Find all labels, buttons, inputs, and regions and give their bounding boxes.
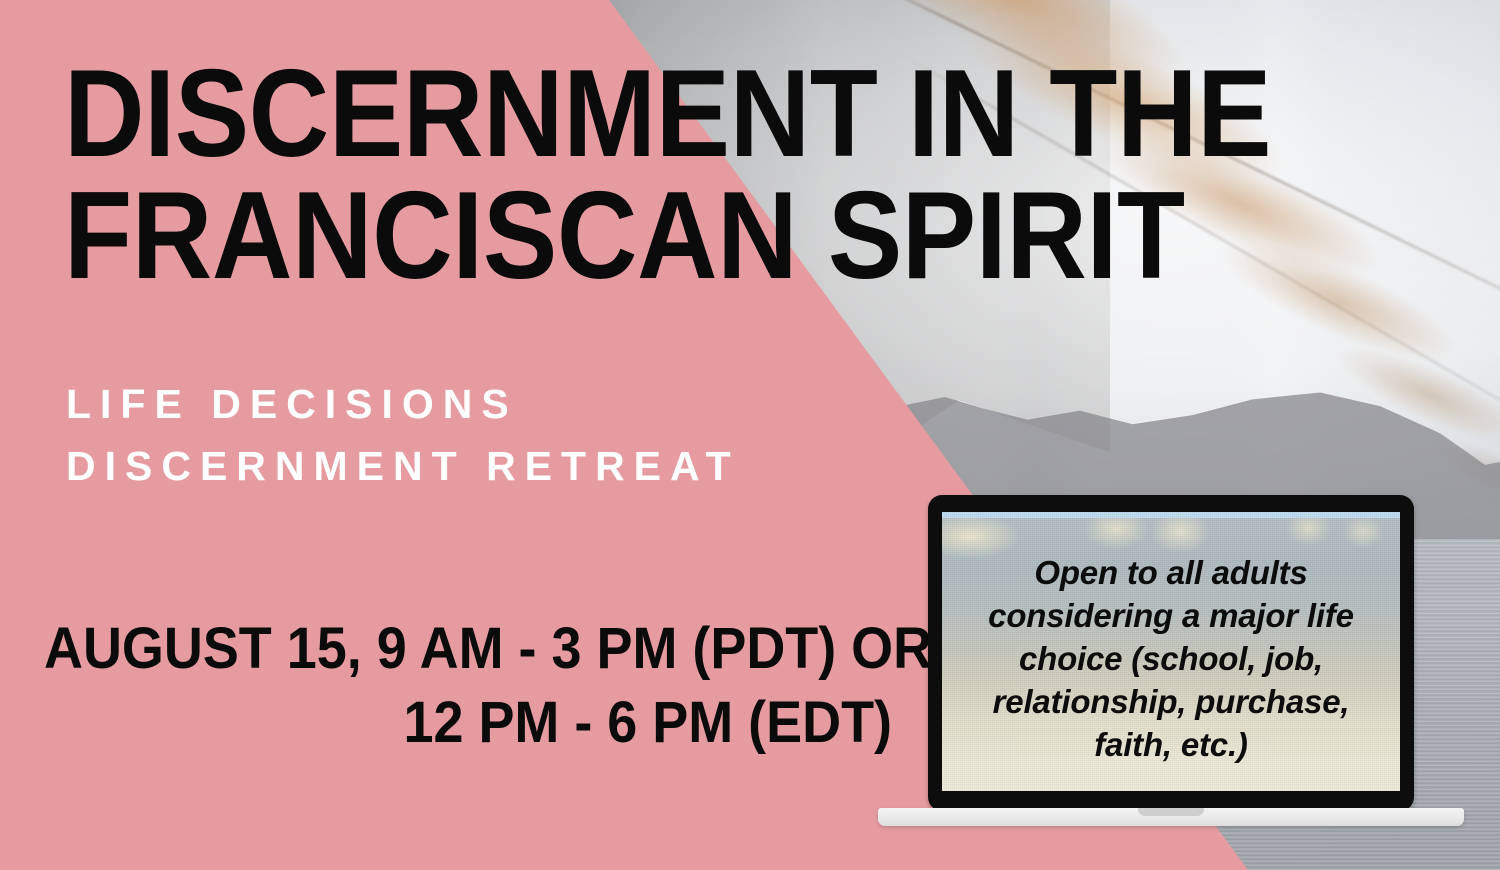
laptop-notch xyxy=(1138,808,1204,816)
datetime-line-1: AUGUST 15, 9 AM - 3 PM (PDT) OR xyxy=(44,612,833,686)
poster-title: DISCERNMENT IN THE FRANCISCAN SPIRIT xyxy=(64,54,1284,297)
datetime-line-2: 12 PM - 6 PM (EDT) xyxy=(103,686,892,760)
title-line-1: DISCERNMENT IN THE xyxy=(64,54,1162,176)
poster-subtitle: LIFE DECISIONS DISCERNMENT RETREAT xyxy=(66,374,740,497)
laptop-mockup: Open to all adults considering a major l… xyxy=(928,495,1414,811)
retreat-promo-poster: DISCERNMENT IN THE FRANCISCAN SPIRIT LIF… xyxy=(0,0,1500,870)
subtitle-line-2: DISCERNMENT RETREAT xyxy=(66,436,740,498)
title-line-2: FRANCISCAN SPIRIT xyxy=(64,176,1162,298)
subtitle-line-1: LIFE DECISIONS xyxy=(66,374,740,436)
laptop-screen: Open to all adults considering a major l… xyxy=(942,512,1400,791)
event-datetime: AUGUST 15, 9 AM - 3 PM (PDT) OR 12 PM - … xyxy=(44,612,892,760)
laptop-screen-message: Open to all adults considering a major l… xyxy=(958,552,1384,766)
